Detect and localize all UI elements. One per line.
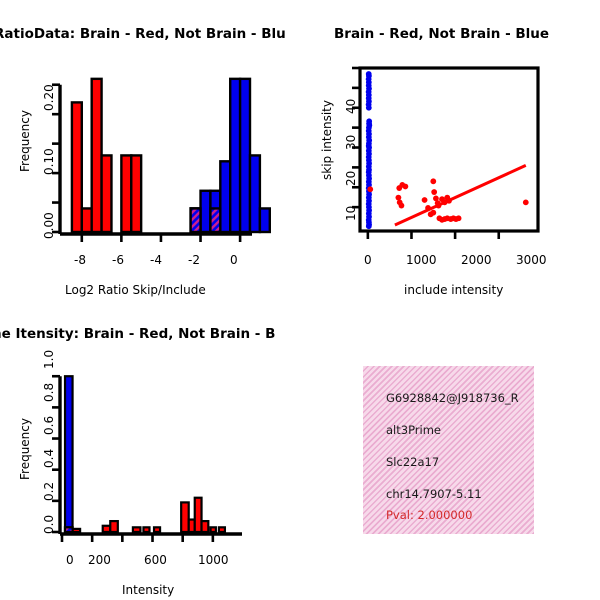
annot-line-gene-symbol: Slc22a17 (386, 455, 439, 469)
annotation-box: G6928842@J918736_R alt3Prime Slc22a17 ch… (363, 366, 534, 534)
annot-line-event-type: alt3Prime (386, 423, 441, 437)
annot-line-pval: Pval: 2.000000 (386, 508, 472, 522)
annot-line-locus: chr14.7907-5.11 (386, 487, 482, 501)
annot-line-probe-id: G6928842@J918736_R (386, 391, 519, 405)
